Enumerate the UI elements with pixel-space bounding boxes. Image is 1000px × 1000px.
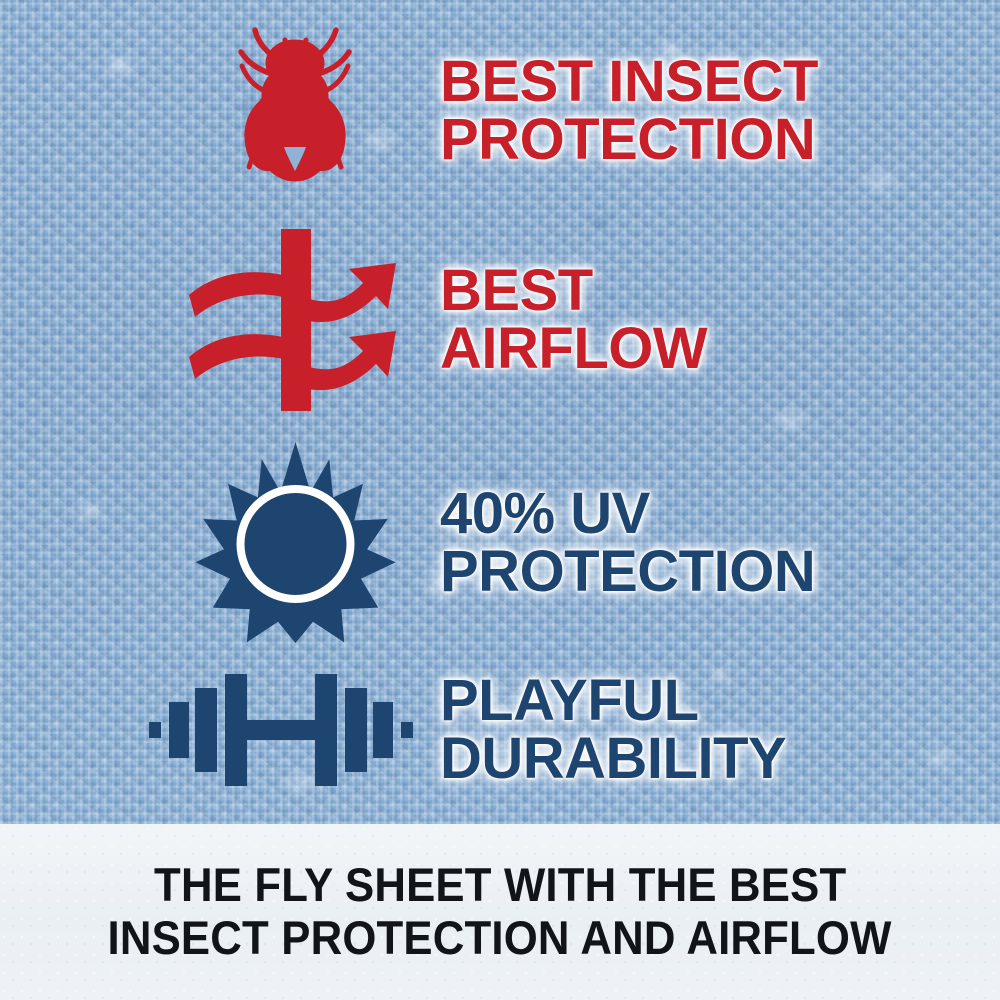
airflow-line-2: AIRFLOW xyxy=(440,320,707,378)
banner-line-2: INSECT PROTECTION AND AIRFLOW xyxy=(108,912,892,965)
sun-icon-container xyxy=(150,440,440,645)
feature-row-durability: PLAYFUL DURABILITY xyxy=(120,650,960,810)
feature-row-airflow: BEST AIRFLOW xyxy=(150,222,960,417)
insect-protection-text: BEST INSECT PROTECTION xyxy=(440,53,818,169)
banner-line-1: THE FLY SHEET WITH THE BEST xyxy=(154,859,846,912)
fly-icon xyxy=(210,21,380,201)
product-feature-poster: BEST INSECT PROTECTION xyxy=(0,0,1000,1000)
uv-protection-line-2: PROTECTION xyxy=(440,543,815,601)
bottom-banner: THE FLY SHEET WITH THE BEST INSECT PROTE… xyxy=(0,824,1000,1000)
sun-icon xyxy=(193,440,398,645)
airflow-arrows-icon xyxy=(183,225,408,415)
fly-icon-container xyxy=(150,18,440,203)
uv-protection-text: 40% UV PROTECTION xyxy=(440,485,815,601)
insect-protection-line-1: BEST INSECT xyxy=(440,53,818,111)
feature-row-insect-protection: BEST INSECT PROTECTION xyxy=(150,18,960,203)
uv-protection-line-1: 40% UV xyxy=(440,485,815,543)
airflow-text: BEST AIRFLOW xyxy=(440,262,707,378)
dumbbell-icon xyxy=(145,660,415,800)
insect-protection-line-2: PROTECTION xyxy=(440,111,818,169)
sun-rays xyxy=(195,442,395,643)
dumbbell-icon-container xyxy=(120,650,440,810)
durability-line-2: DURABILITY xyxy=(440,730,786,788)
airflow-icon-container xyxy=(150,222,440,417)
durability-line-1: PLAYFUL xyxy=(440,672,786,730)
feature-row-uv-protection: 40% UV PROTECTION xyxy=(150,440,960,645)
airflow-line-1: BEST xyxy=(440,262,707,320)
durability-text: PLAYFUL DURABILITY xyxy=(440,672,786,788)
